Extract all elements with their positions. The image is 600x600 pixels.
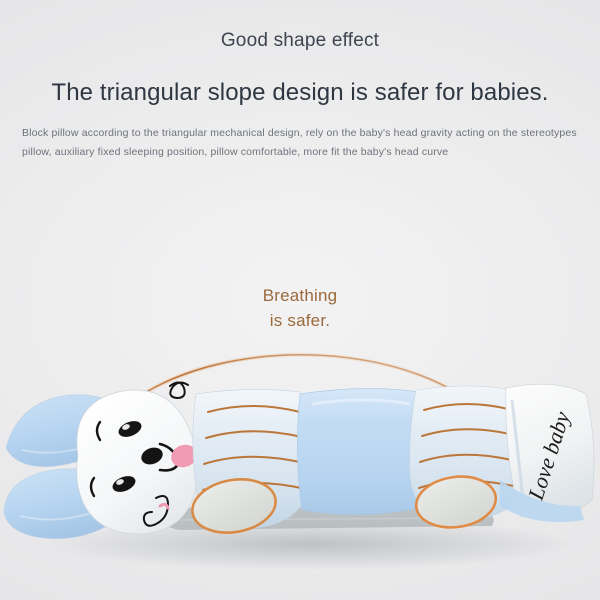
bunny-whisker-upper	[170, 382, 188, 398]
kicker-text: Good shape effect	[0, 30, 600, 52]
description-paragraph: Block pillow according to the triangular…	[22, 124, 578, 162]
caption-line-1: Breathing	[0, 283, 600, 308]
breathing-caption: Breathing is safer.	[0, 283, 600, 333]
right-bolster-roll	[410, 386, 518, 532]
bunny-head	[77, 382, 200, 534]
center-cushion	[297, 388, 423, 514]
product-illustration: Love baby	[0, 330, 600, 600]
product-marketing-image: Good shape effect The triangular slope d…	[0, 0, 600, 600]
page-title: The triangular slope design is safer for…	[0, 79, 600, 107]
